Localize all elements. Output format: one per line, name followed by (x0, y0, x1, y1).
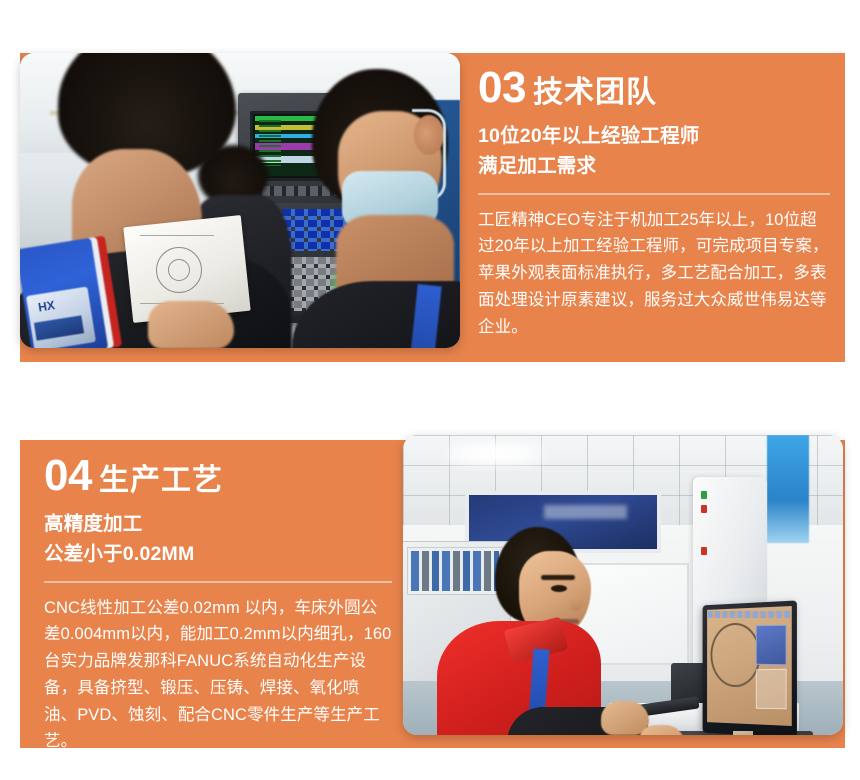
section-03-divider (478, 193, 830, 195)
software-data-panel (756, 669, 787, 709)
section-04-title: 生产工艺 (99, 466, 223, 496)
section-04-heading: 04 生产工艺 (44, 454, 392, 498)
ceiling-light (447, 441, 543, 467)
section-03-subtitle: 10位20年以上经验工程师 满足加工需求 (478, 122, 830, 181)
cmm-red-indicator-1 (701, 505, 707, 513)
section-03-subtitle-line-1: 10位20年以上经验工程师 (478, 122, 830, 152)
monitor-stand-neck (733, 731, 753, 735)
section-04-subtitle: 高精度加工 公差小于0.02MM (44, 510, 392, 569)
cmm-inspection-photo (403, 435, 843, 735)
file-binders (411, 551, 499, 591)
drawing-line-top (140, 235, 214, 236)
section-04-number: 04 (44, 454, 92, 498)
section-03-number: 03 (478, 66, 526, 110)
engineer-nose (569, 593, 583, 611)
section-03-text-block: 03 技术团队 10位20年以上经验工程师 满足加工需求 工匠精神CEO专注于机… (478, 66, 830, 340)
section-03-heading: 03 技术团队 (478, 66, 830, 110)
section-03-body: 工匠精神CEO专注于机加工25年以上，10位超过20年以上加工经验工程师，可完成… (478, 207, 830, 341)
section-03-subtitle-line-2: 满足加工需求 (478, 152, 830, 182)
section-03-title: 技术团队 (533, 78, 657, 108)
cmm-green-indicator (701, 491, 707, 499)
section-04-text-block: 04 生产工艺 高精度加工 公差小于0.02MM CNC线性加工公差0.02mm… (44, 454, 392, 755)
engineer-eyebrow (541, 575, 575, 580)
software-toolbar (708, 611, 791, 618)
drawing-inner-circle (168, 259, 190, 281)
section-04-subtitle-line-1: 高精度加工 (44, 510, 392, 540)
cnc-machine-operators-photo: HX (20, 53, 460, 348)
cmm-red-indicator-2 (701, 547, 707, 555)
part-outline-on-screen (710, 622, 760, 687)
section-04-subtitle-line-2: 公差小于0.02MM (44, 540, 392, 570)
blue-blind (767, 435, 809, 543)
left-worker-hand (148, 301, 234, 348)
product-detail-page: HX 03 技术团队 10位20年以上经验工程师 满足加工需求 工匠精神CEO专… (0, 0, 860, 780)
section-04-divider (44, 581, 392, 583)
software-subwindow (756, 625, 787, 665)
section-04-body: CNC线性加工公差0.02mm 以内，车床外圆公差0.004mm以内，能加工0.… (44, 595, 392, 755)
engineer-eye (551, 585, 567, 592)
